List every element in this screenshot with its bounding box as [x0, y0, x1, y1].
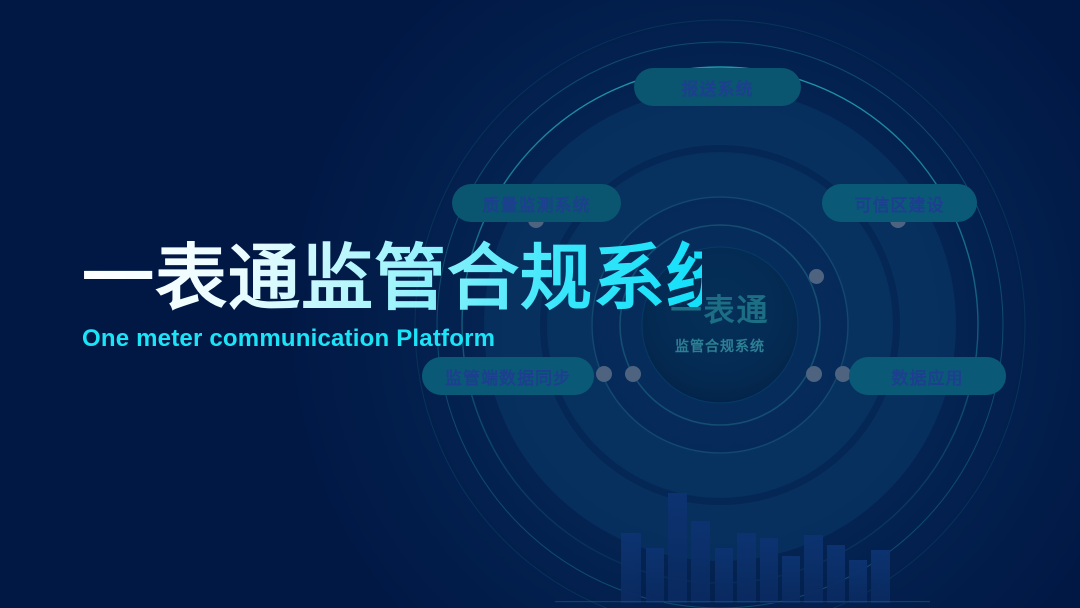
connector-dot-jianguan-outer — [596, 366, 612, 382]
connector-dot-jianguan-inner — [625, 366, 641, 382]
node-pill-kexin[interactable]: 可信区建设 — [822, 184, 977, 222]
title-block: 一表通监管合规系统 One meter communication Platfo… — [82, 240, 702, 353]
page-subtitle: One meter communication Platform — [82, 325, 702, 353]
node-pill-baosong[interactable]: 报送系统 — [634, 68, 801, 106]
page-title: 一表通监管合规系统 — [82, 240, 702, 318]
node-pill-jianguan[interactable]: 监管端数据同步 — [422, 357, 594, 395]
slide-canvas: 一表通监管合规系统 One meter communication Platfo… — [0, 0, 1080, 608]
node-pill-shuju[interactable]: 数据应用 — [849, 357, 1006, 395]
connector-dot-orbit-upper-right — [809, 269, 824, 284]
connector-dot-shuju-inner — [806, 366, 822, 382]
node-pill-zhiliang[interactable]: 质量监测系统 — [452, 184, 621, 222]
